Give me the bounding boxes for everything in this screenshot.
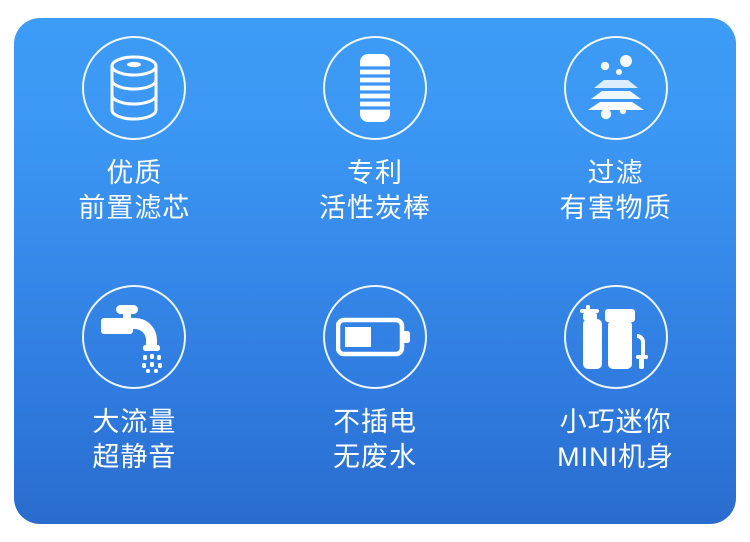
feature-item-no-power-no-wastewater[interactable]: 不插电 无废水	[255, 271, 496, 524]
feature-item-high-flow-ultra-quiet[interactable]: 大流量 超静音	[14, 271, 255, 524]
feature-caption: 大流量 超静音	[92, 405, 176, 475]
feature-caption-line1: 过滤	[588, 158, 644, 188]
feature-caption-line1: 不插电	[333, 407, 417, 437]
feature-item-compact-mini-body[interactable]: 小巧迷你 MINI机身	[495, 271, 736, 524]
layered-filtration-icon	[578, 52, 654, 124]
icon-circle	[82, 285, 186, 389]
feature-item-filters-harmful-substances[interactable]: 过滤 有害物质	[495, 18, 736, 271]
battery-icon	[336, 316, 414, 358]
feature-item-premium-pre-filter[interactable]: 优质 前置滤芯	[14, 18, 255, 271]
feature-item-patented-carbon-rod[interactable]: 专利 活性炭棒	[255, 18, 496, 271]
water-purifier-unit-icon	[578, 300, 654, 374]
feature-grid: 优质 前置滤芯	[14, 18, 736, 524]
feature-caption-line1: 大流量	[92, 407, 176, 437]
feature-caption-line1: 小巧迷你	[560, 407, 672, 437]
faucet-water-icon	[97, 301, 171, 373]
feature-caption-line2: 活性炭棒	[319, 191, 431, 226]
feature-caption-line2: 无废水	[333, 440, 417, 475]
feature-caption: 优质 前置滤芯	[78, 156, 190, 226]
feature-caption: 不插电 无废水	[333, 405, 417, 475]
feature-caption-line2: 有害物质	[560, 191, 672, 226]
feature-caption: 专利 活性炭棒	[319, 156, 431, 226]
feature-caption-line1: 优质	[106, 158, 162, 188]
carbon-rod-icon	[354, 52, 396, 124]
feature-caption-line2: MINI机身	[557, 440, 674, 475]
feature-caption-line2: 超静音	[92, 440, 176, 475]
icon-circle	[323, 285, 427, 389]
feature-caption-line1: 专利	[347, 158, 403, 188]
icon-circle	[82, 36, 186, 140]
icon-circle	[564, 285, 668, 389]
feature-caption-line2: 前置滤芯	[78, 191, 190, 226]
icon-circle	[323, 36, 427, 140]
feature-panel: 优质 前置滤芯	[14, 18, 736, 524]
feature-caption: 过滤 有害物质	[560, 156, 672, 226]
feature-caption: 小巧迷你 MINI机身	[557, 405, 674, 475]
filter-cartridge-icon	[103, 55, 165, 121]
icon-circle	[564, 36, 668, 140]
